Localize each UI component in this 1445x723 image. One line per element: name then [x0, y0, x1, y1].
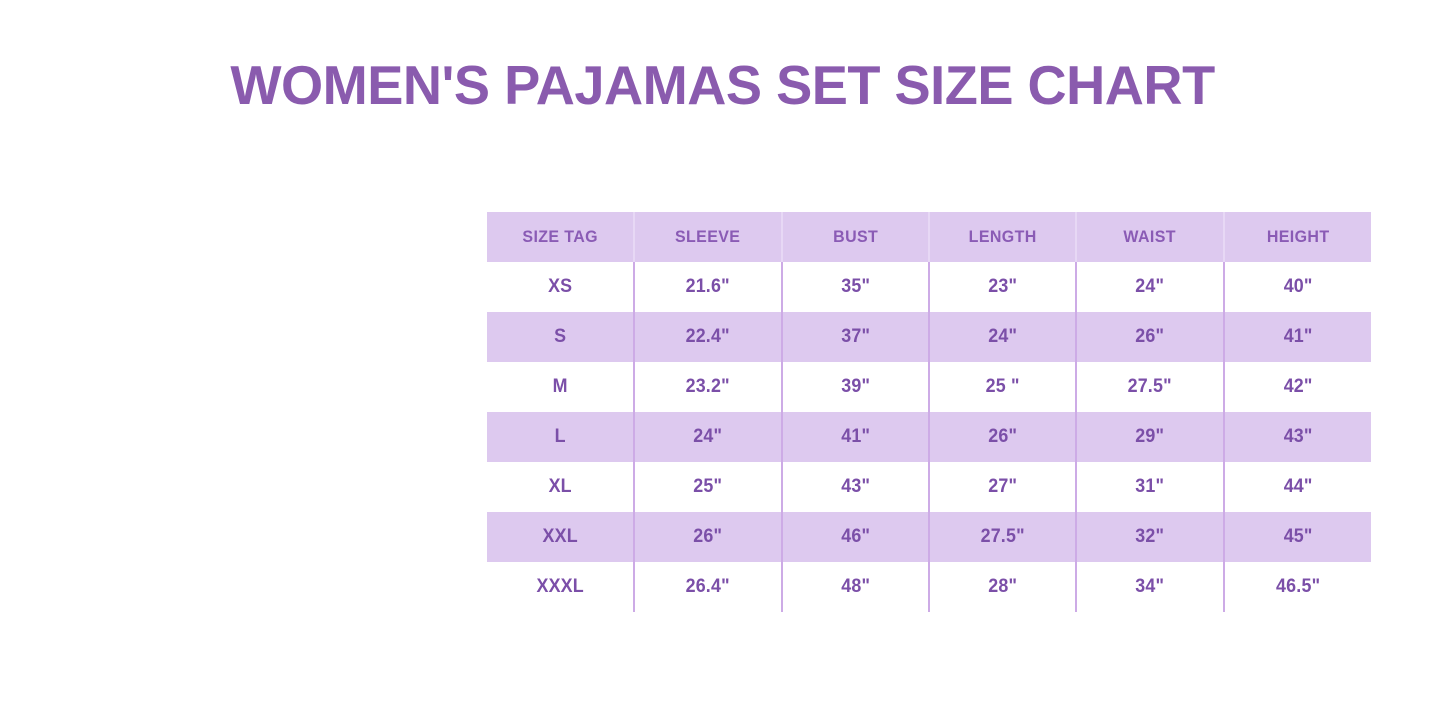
- cell-bust: 46": [786, 512, 924, 562]
- cell-sleeve: 24": [639, 412, 777, 462]
- cell-bust: 41": [786, 412, 924, 462]
- cell-size-tag: M: [491, 362, 629, 412]
- cell-height: 41": [1228, 312, 1367, 362]
- cell-waist: 27.5": [1081, 362, 1219, 412]
- size-chart-table: SIZE TAG SLEEVE BUST LENGTH WAIST HEIGHT…: [487, 212, 1371, 612]
- column-header-length: LENGTH: [933, 212, 1071, 262]
- cell-length: 28": [933, 562, 1071, 612]
- cell-length: 26": [933, 412, 1071, 462]
- cell-height: 40": [1228, 262, 1367, 312]
- column-header-waist: WAIST: [1081, 212, 1219, 262]
- table-body: XS 21.6" 35" 23" 24" 40" S 22.4" 37" 24"…: [487, 262, 1371, 612]
- table-header: SIZE TAG SLEEVE BUST LENGTH WAIST HEIGHT: [487, 212, 1371, 262]
- column-header-size-tag: SIZE TAG: [491, 212, 629, 262]
- cell-height: 42": [1228, 362, 1367, 412]
- cell-size-tag: S: [491, 312, 629, 362]
- cell-size-tag: XL: [491, 462, 629, 512]
- table-row: XL 25" 43" 27" 31" 44": [487, 462, 1371, 512]
- cell-bust: 37": [786, 312, 924, 362]
- cell-waist: 26": [1081, 312, 1219, 362]
- cell-waist: 29": [1081, 412, 1219, 462]
- column-header-height: HEIGHT: [1228, 212, 1367, 262]
- cell-height: 45": [1228, 512, 1367, 562]
- cell-length: 23": [933, 262, 1071, 312]
- table-row: S 22.4" 37" 24" 26" 41": [487, 312, 1371, 362]
- cell-waist: 32": [1081, 512, 1219, 562]
- table-row: M 23.2" 39" 25 " 27.5" 42": [487, 362, 1371, 412]
- table-header-row: SIZE TAG SLEEVE BUST LENGTH WAIST HEIGHT: [487, 212, 1371, 262]
- cell-bust: 39": [786, 362, 924, 412]
- cell-sleeve: 26": [639, 512, 777, 562]
- table-row: XXL 26" 46" 27.5" 32" 45": [487, 512, 1371, 562]
- cell-size-tag: XXXL: [491, 562, 629, 612]
- size-chart-container: SIZE TAG SLEEVE BUST LENGTH WAIST HEIGHT…: [487, 212, 1371, 612]
- cell-size-tag: L: [491, 412, 629, 462]
- cell-sleeve: 23.2": [639, 362, 777, 412]
- cell-sleeve: 25": [639, 462, 777, 512]
- cell-waist: 34": [1081, 562, 1219, 612]
- cell-height: 44": [1228, 462, 1367, 512]
- column-header-bust: BUST: [786, 212, 924, 262]
- cell-height: 46.5": [1228, 562, 1367, 612]
- cell-size-tag: XXL: [491, 512, 629, 562]
- cell-length: 27.5": [933, 512, 1071, 562]
- column-header-sleeve: SLEEVE: [639, 212, 777, 262]
- cell-bust: 35": [786, 262, 924, 312]
- cell-length: 25 ": [933, 362, 1071, 412]
- cell-sleeve: 26.4": [639, 562, 777, 612]
- table-row: XS 21.6" 35" 23" 24" 40": [487, 262, 1371, 312]
- cell-sleeve: 21.6": [639, 262, 777, 312]
- table-row: L 24" 41" 26" 29" 43": [487, 412, 1371, 462]
- cell-length: 24": [933, 312, 1071, 362]
- cell-waist: 31": [1081, 462, 1219, 512]
- cell-length: 27": [933, 462, 1071, 512]
- cell-sleeve: 22.4": [639, 312, 777, 362]
- cell-bust: 43": [786, 462, 924, 512]
- page-title: WOMEN'S PAJAMAS SET SIZE CHART: [11, 54, 1434, 116]
- cell-waist: 24": [1081, 262, 1219, 312]
- table-row: XXXL 26.4" 48" 28" 34" 46.5": [487, 562, 1371, 612]
- cell-bust: 48": [786, 562, 924, 612]
- cell-height: 43": [1228, 412, 1367, 462]
- cell-size-tag: XS: [491, 262, 629, 312]
